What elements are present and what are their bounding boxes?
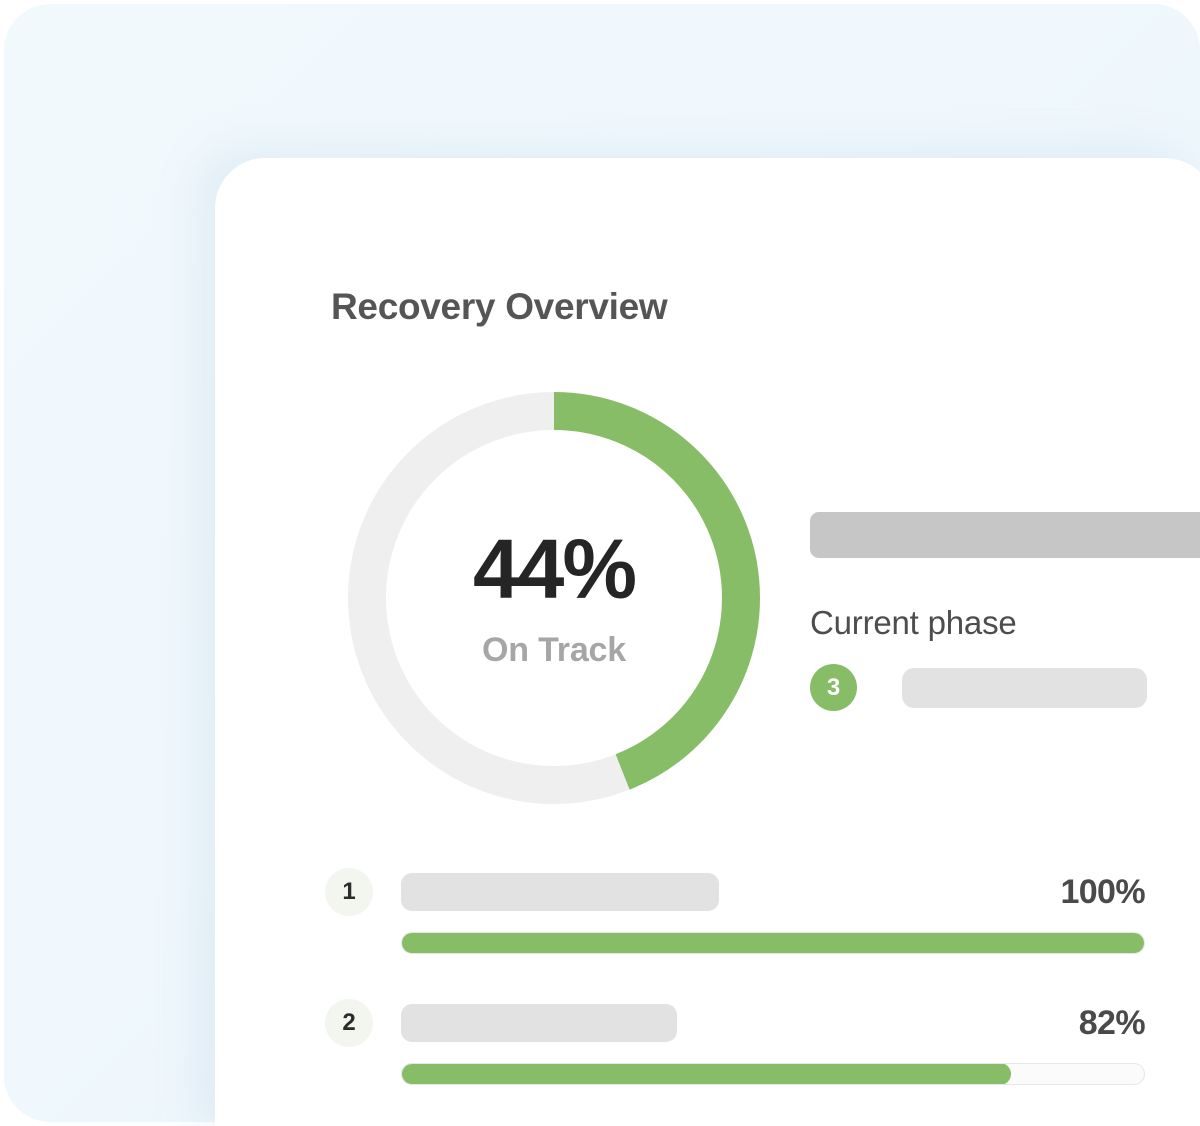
current-phase-panel: Current phase 3 bbox=[810, 512, 1200, 711]
phase-progress-list: 1 100% 2 82% bbox=[325, 868, 1145, 1126]
panel-title-skeleton bbox=[810, 512, 1200, 558]
donut-value: 44% bbox=[473, 527, 635, 611]
phase-progress-fill bbox=[401, 932, 1145, 954]
current-phase-heading: Current phase bbox=[810, 604, 1200, 642]
screenshot-root: Recovery Overview 44% On Track Current p… bbox=[0, 0, 1200, 1126]
current-phase-name-skeleton bbox=[902, 668, 1147, 708]
phase-progress-fill bbox=[401, 1063, 1011, 1085]
phase-name-skeleton bbox=[401, 873, 719, 911]
phase-progress-track bbox=[401, 1063, 1145, 1085]
phase-progress-track bbox=[401, 932, 1145, 954]
donut-center-labels: 44% On Track bbox=[348, 392, 760, 804]
recovery-progress-donut: 44% On Track bbox=[348, 392, 760, 804]
phase-header-row: 1 100% bbox=[325, 868, 1145, 916]
page-title: Recovery Overview bbox=[331, 286, 667, 328]
phase-number-badge: 1 bbox=[325, 868, 373, 916]
phase-name-skeleton bbox=[401, 1004, 677, 1042]
list-item[interactable]: 2 82% bbox=[325, 999, 1145, 1085]
phase-header-row: 2 82% bbox=[325, 999, 1145, 1047]
current-phase-row[interactable]: 3 bbox=[810, 664, 1200, 711]
list-item[interactable]: 1 100% bbox=[325, 868, 1145, 954]
recovery-overview-card: Recovery Overview 44% On Track Current p… bbox=[215, 158, 1200, 1126]
phase-number-badge: 2 bbox=[325, 999, 373, 1047]
phase-percent-label: 82% bbox=[1079, 1004, 1145, 1043]
phase-percent-label: 100% bbox=[1060, 873, 1145, 912]
current-phase-badge: 3 bbox=[810, 664, 857, 711]
donut-status-label: On Track bbox=[482, 631, 626, 670]
